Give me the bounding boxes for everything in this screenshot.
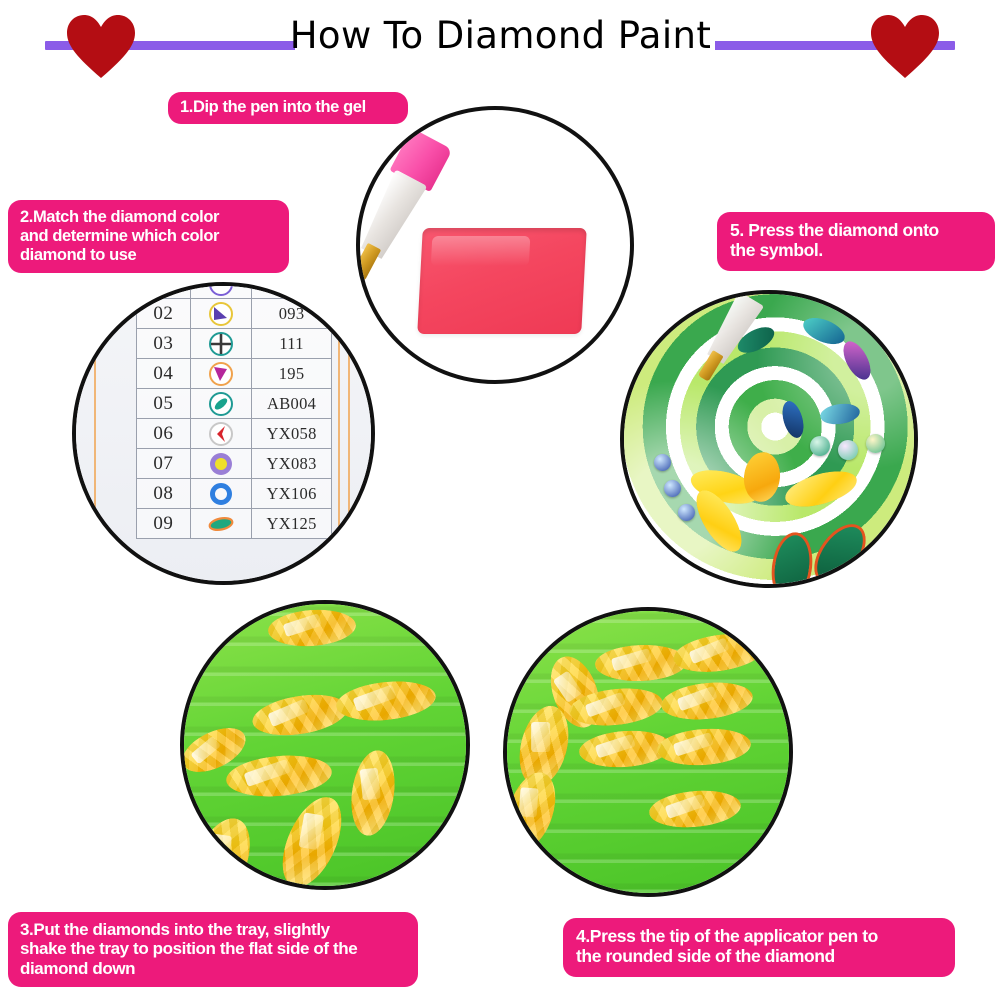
chart-symbol — [190, 509, 252, 539]
step-3-line-2: shake the tray to position the flat side… — [20, 939, 406, 958]
step-4-line-2: the rounded side of the diamond — [576, 947, 942, 967]
chart-code: YX106 — [252, 479, 332, 509]
step-3-label: 3.Put the diamonds into the tray, slight… — [8, 912, 418, 987]
blue-dots-circle-symbol — [208, 282, 234, 297]
step-2-line-1: 2.Match the diamond color — [20, 208, 277, 227]
open-ring-symbol — [208, 481, 234, 507]
chart-symbol — [190, 449, 252, 479]
color-chart-body: 01 028 02 — [137, 282, 332, 539]
chart-no: 03 — [137, 329, 191, 359]
table-row: 06 YX058 — [137, 419, 332, 449]
pen-metal-tip — [356, 243, 381, 282]
table-row: 09 YX125 — [137, 509, 332, 539]
chart-no: 05 — [137, 389, 191, 419]
chart-no: 01 — [137, 282, 191, 299]
photo-inner — [507, 611, 789, 893]
step-4-line-1: 4.Press the tip of the applicator pen to — [576, 927, 942, 947]
canvas-guide-line — [348, 282, 350, 585]
rhinestone — [866, 434, 885, 453]
step-2-line-3: diamond to use — [20, 246, 277, 265]
chart-symbol — [190, 299, 252, 329]
photo-step-2-color-chart: 01 028 02 — [72, 282, 375, 585]
chevron-symbol — [208, 421, 234, 447]
infographic-canvas: How To Diamond Paint 1.Dip the pen into … — [0, 0, 1001, 1001]
photo-inner — [360, 110, 630, 380]
rhinestone — [664, 480, 681, 497]
chart-no: 06 — [137, 419, 191, 449]
step-3-line-3: diamond down — [20, 959, 406, 978]
table-row: 07 YX083 — [137, 449, 332, 479]
canvas-guide-line — [94, 282, 96, 585]
chart-code: YX058 — [252, 419, 332, 449]
photo-step-3-diamonds-in-tray — [180, 600, 470, 890]
chart-symbol — [190, 359, 252, 389]
rhinestone — [810, 436, 830, 456]
table-row: 05 AB004 — [137, 389, 332, 419]
chart-code: AB004 — [252, 389, 332, 419]
leaf-symbol — [208, 511, 234, 537]
table-row: 01 028 — [137, 282, 332, 299]
wax-gel-square — [417, 228, 587, 334]
oval-bar-symbol — [208, 391, 234, 417]
chart-code: YX125 — [252, 509, 332, 539]
color-chart-table: 01 028 02 — [136, 282, 332, 539]
photo-inner: 01 028 02 — [76, 286, 371, 581]
step-2-label: 2.Match the diamond color and determine … — [8, 200, 289, 273]
step-2-line-2: and determine which color — [20, 227, 277, 246]
chart-symbol — [190, 329, 252, 359]
rhinestone — [654, 454, 671, 471]
chart-code: 195 — [252, 359, 332, 389]
photo-inner — [184, 604, 466, 886]
chart-code: 111 — [252, 329, 332, 359]
table-row: 03 111 — [137, 329, 332, 359]
chart-code: YX083 — [252, 449, 332, 479]
chart-no: 08 — [137, 479, 191, 509]
chart-no: 09 — [137, 509, 191, 539]
chart-no: 04 — [137, 359, 191, 389]
chart-symbol — [190, 389, 252, 419]
triangle-symbol — [208, 301, 234, 327]
chart-symbol — [190, 479, 252, 509]
photo-inner — [624, 294, 914, 584]
photo-step-1-pen-in-gel — [356, 106, 634, 384]
chart-no: 07 — [137, 449, 191, 479]
dot-in-ring-symbol — [208, 451, 234, 477]
photo-step-4-pen-presses-diamond — [503, 607, 793, 897]
rhinestone — [838, 440, 858, 460]
step-3-line-1: 3.Put the diamonds into the tray, slight… — [20, 920, 406, 939]
page-title: How To Diamond Paint — [0, 14, 1001, 57]
table-row: 02 093 — [137, 299, 332, 329]
photo-step-5-press-onto-symbol — [620, 290, 918, 588]
plus-symbol — [208, 331, 234, 357]
step-5-label: 5. Press the diamond onto the symbol. — [717, 212, 995, 271]
chart-code: 093 — [252, 299, 332, 329]
triangle-symbol — [208, 361, 234, 387]
step-4-label: 4.Press the tip of the applicator pen to… — [563, 918, 955, 977]
canvas-guide-line — [338, 282, 340, 585]
rhinestone — [678, 504, 695, 521]
step-5-line-1: 5. Press the diamond onto — [730, 221, 982, 241]
chart-code: 028 — [252, 282, 332, 299]
table-row: 08 YX106 — [137, 479, 332, 509]
chart-no: 02 — [137, 299, 191, 329]
chart-symbol — [190, 282, 252, 299]
chart-symbol — [190, 419, 252, 449]
table-row: 04 195 — [137, 359, 332, 389]
header: How To Diamond Paint — [0, 0, 1001, 88]
step-5-line-2: the symbol. — [730, 241, 982, 261]
